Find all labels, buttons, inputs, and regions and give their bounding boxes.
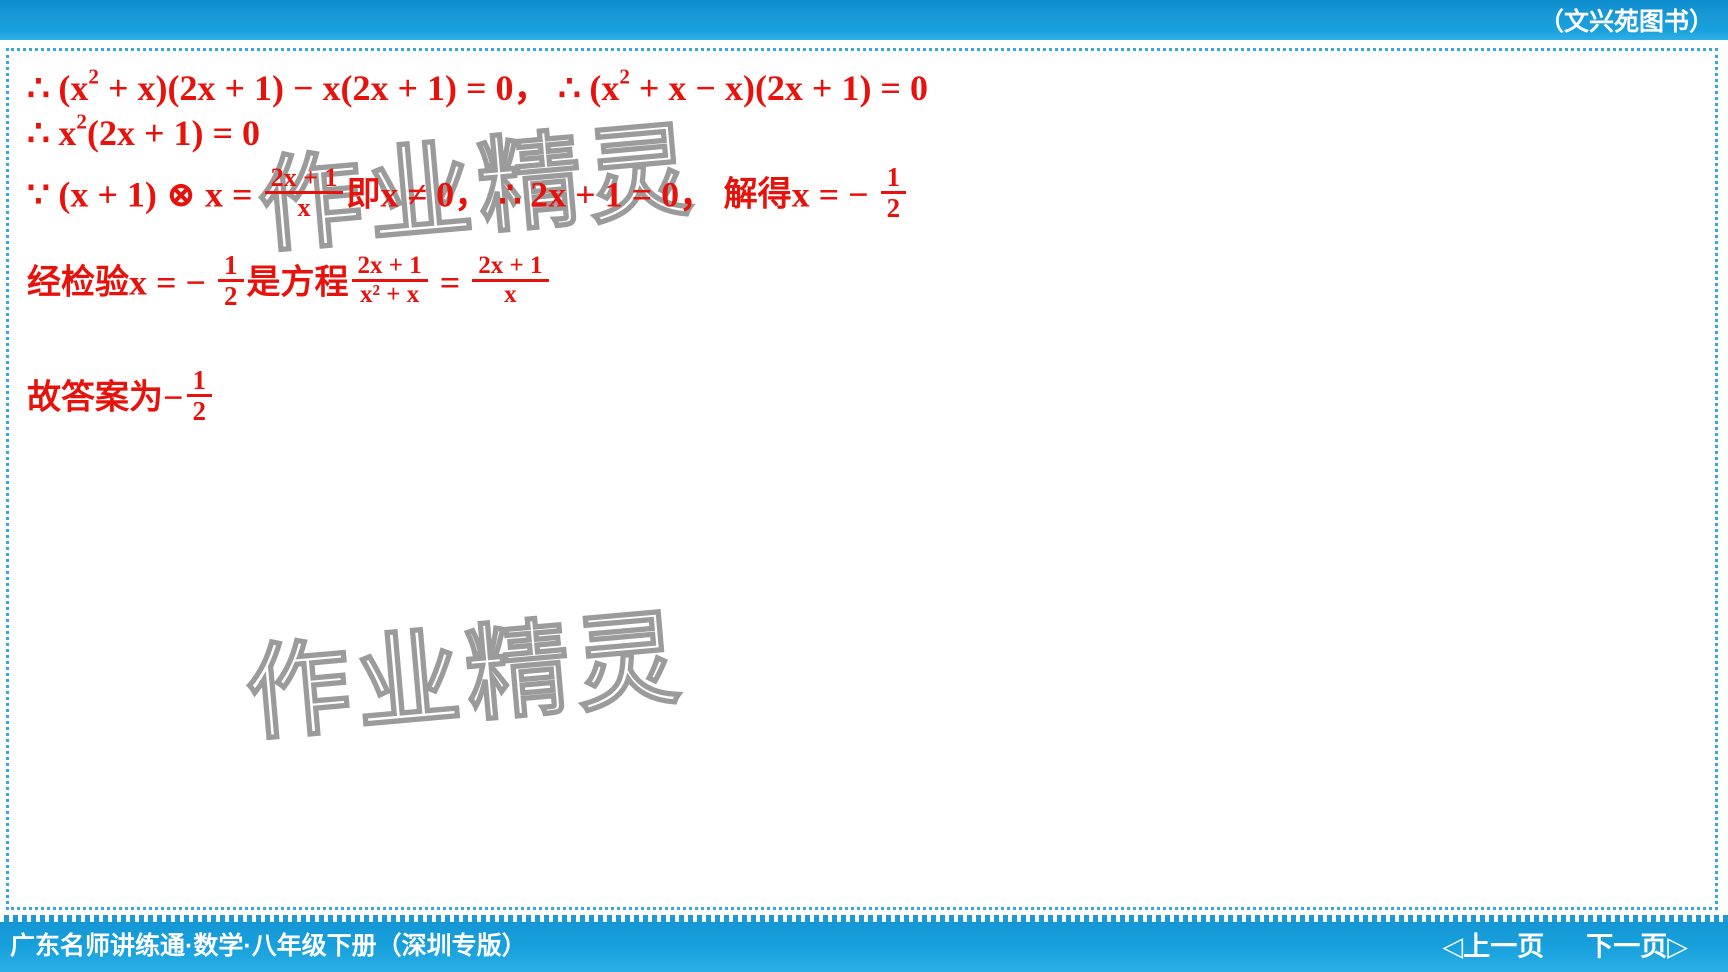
expr-l3-a: (x + 1) ⊗ x = xyxy=(58,175,261,215)
label-ji: 即 xyxy=(346,176,380,214)
fraction-denominator: 2 xyxy=(218,279,244,310)
fraction-numerator: 2x + 1 xyxy=(352,253,428,279)
fraction-numerator: 1 xyxy=(218,251,244,279)
watermark-bottom: 作业精灵 xyxy=(239,572,691,761)
therefore-symbol-3: ∴ xyxy=(27,113,50,153)
expr-l3-b: x ≠ 0， xyxy=(380,175,490,215)
expr-l4-a: x = − xyxy=(129,262,215,302)
expr-l2-b: (2x + 1) = 0 xyxy=(87,113,260,153)
footer-tick-strip xyxy=(0,915,1728,922)
fraction-denominator: 2 xyxy=(187,394,213,425)
expr-l3-d: x = − xyxy=(792,175,878,215)
next-page-button[interactable]: 下一页▷ xyxy=(1586,924,1688,963)
publisher-label: （文兴苑图书） xyxy=(1539,2,1714,38)
fraction-numerator: 1 xyxy=(187,366,213,394)
expr-l3-c: 2x + 1 = 0， xyxy=(530,175,715,215)
solution-line-5: 故答案为−12 xyxy=(27,368,1705,427)
fraction-numerator: 2x + 1 xyxy=(472,253,548,279)
fraction-numerator: 2x + 1 xyxy=(265,164,344,191)
therefore-symbol: ∴ xyxy=(27,68,50,108)
fraction-denominator: 2 xyxy=(881,191,907,222)
fraction-2x1-over-x-l4: 2x + 1x xyxy=(472,253,548,308)
fraction-denominator: x xyxy=(472,279,548,308)
page-footer: 广东名师讲练通·数学·八年级下册（深圳专版） ◁上一页 下一页▷ xyxy=(0,915,1728,972)
exponent-l1-c: 2 xyxy=(619,65,630,89)
page-header: （文兴苑图书） xyxy=(0,0,1728,40)
prev-page-button[interactable]: ◁上一页 xyxy=(1442,924,1544,963)
book-title: 广东名师讲练通·数学·八年级下册（深圳专版） xyxy=(10,926,527,962)
label-jiede: 解得 xyxy=(724,176,792,214)
solution-line-2: ∴ x2(2x + 1) = 0 xyxy=(27,114,1705,151)
fraction-one-half-l4: 12 xyxy=(218,251,244,310)
fraction-2x1-over-x2x: 2x + 1x² + x xyxy=(352,253,428,308)
exponent-l2: 2 xyxy=(76,110,87,134)
equals-sign-l4: = xyxy=(431,262,470,302)
expr-l1-b: + x)(2x + 1) − x(2x + 1) = 0， xyxy=(99,68,550,108)
answer-content-panel: 作业精灵 作业精灵 ∴ (x2 + x)(2x + 1) − x(2x + 1)… xyxy=(6,48,1718,910)
expr-l1-d: + x − x)(2x + 1) = 0 xyxy=(630,68,928,108)
pagination-nav: ◁上一页 下一页▷ xyxy=(1442,924,1688,963)
therefore-symbol-2: ∴ xyxy=(558,68,581,108)
label-shifangcheng: 是方程 xyxy=(247,263,349,301)
therefore-symbol-4: ∴ xyxy=(499,175,522,215)
because-symbol: ∵ xyxy=(27,175,50,215)
solution-line-4: 经检验x = − 12是方程2x + 1x² + x = 2x + 1x xyxy=(27,253,1705,312)
expr-l1-a: (x xyxy=(58,68,88,108)
expr-l2-a: x xyxy=(58,113,76,153)
minus-sign-l5: − xyxy=(163,377,184,417)
fraction-denominator: x² + x xyxy=(352,279,428,308)
exponent-l1-a: 2 xyxy=(88,65,99,89)
solution-line-1: ∴ (x2 + x)(2x + 1) − x(2x + 1) = 0， ∴ (x… xyxy=(27,69,1705,106)
fraction-2x1-over-x: 2x + 1x xyxy=(265,164,344,221)
fraction-denominator: x xyxy=(265,191,344,221)
expr-l1-c: (x xyxy=(589,68,619,108)
solution-line-3: ∵ (x + 1) ⊗ x = 2x + 1x即x ≠ 0， ∴ 2x + 1 … xyxy=(27,165,1705,224)
label-guodaanwei: 故答案为 xyxy=(27,378,163,416)
solution-body: ∴ (x2 + x)(2x + 1) − x(2x + 1) = 0， ∴ (x… xyxy=(27,61,1705,435)
fraction-one-half-l3: 12 xyxy=(881,163,907,222)
label-jingjianyan: 经检验 xyxy=(27,263,129,301)
fraction-one-half-answer: 12 xyxy=(187,366,213,425)
fraction-numerator: 1 xyxy=(881,163,907,191)
